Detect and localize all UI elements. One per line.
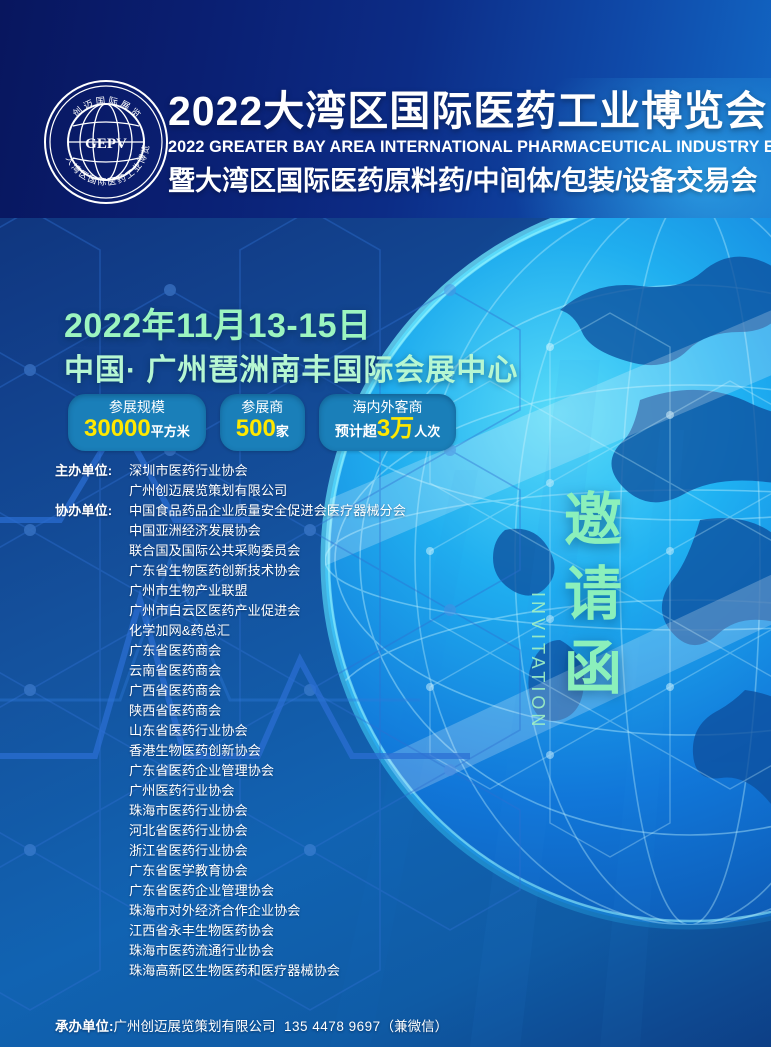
- host-row: 主办单位: 深圳市医药行业协会: [55, 461, 475, 481]
- stat-unit: 人次: [414, 424, 440, 439]
- stat-value-group: 30000平方米: [84, 416, 190, 444]
- coorganizer-row: 江西省永丰生物医药协会: [55, 921, 475, 941]
- coorganizer-name: 香港生物医药创新协会: [129, 741, 261, 761]
- coorganizer-name: 广州市白云区医药产业促进会: [129, 601, 300, 621]
- coorganizer-name: 化学加网&药总汇: [129, 621, 230, 641]
- poster-header: GEPV 创迈国际展览 大湾区国际医药工业博览会 2022大湾区国际医药工业博览…: [0, 0, 771, 218]
- host-name: 广州创迈展览策划有限公司: [129, 481, 287, 501]
- coorganizer-row: 云南省医药商会: [55, 661, 475, 681]
- stat-label: 参展规模: [84, 399, 190, 416]
- coorganizer-name: 云南省医药商会: [129, 661, 221, 681]
- expo-title-cn: 2022大湾区国际医药工业博览会: [168, 88, 764, 134]
- title-block: 2022大湾区国际医药工业博览会 2022 GREATER BAY AREA I…: [168, 88, 764, 199]
- coorganizer-name: 江西省永丰生物医药协会: [129, 921, 274, 941]
- host-name: 深圳市医药行业协会: [129, 461, 248, 481]
- logo-center-text: GEPV: [85, 136, 127, 152]
- logo-top-arc-text: 创迈国际展览: [70, 96, 144, 123]
- coorganizer-row: 广州市白云区医药产业促进会: [55, 601, 475, 621]
- footer-note: （兼微信）: [381, 1019, 449, 1034]
- poster-root: GEPV 创迈国际展览 大湾区国际医药工业博览会 2022大湾区国际医药工业博览…: [0, 0, 771, 1047]
- stat-number: 500: [236, 415, 276, 442]
- coorganizer-row: 浙江省医药行业协会: [55, 841, 475, 861]
- coorganizer-row: 广东省医药商会: [55, 641, 475, 661]
- svg-text:创迈国际展览: 创迈国际展览: [70, 96, 144, 123]
- expo-title-en: 2022 GREATER BAY AREA INTERNATIONAL PHAR…: [168, 136, 755, 158]
- coorganizer-row: 化学加网&药总汇: [55, 621, 475, 641]
- coorganizer-row: 陕西省医药商会: [55, 701, 475, 721]
- coorganizer-row: 协办单位: 中国食品药品企业质量安全促进会医疗器械分会: [55, 501, 475, 521]
- coorganizer-row: 珠海市对外经济合作企业协会: [55, 901, 475, 921]
- coorganizer-sublist: 中国亚洲经济发展协会联合国及国际公共采购委员会广东省生物医药创新技术协会广州市生…: [55, 521, 475, 981]
- footer-organizer: 承办单位:广州创迈展览策划有限公司 135 4478 9697（兼微信）: [55, 1015, 448, 1035]
- coorganizer-name: 广州市生物产业联盟: [129, 581, 248, 601]
- coorganizer-name: 广东省医学教育协会: [129, 861, 248, 881]
- coorganizer-name: 中国亚洲经济发展协会: [129, 521, 261, 541]
- stat-unit: 平方米: [151, 424, 190, 439]
- coorganizer-row: 珠海高新区生物医药和医疗器械协会: [55, 961, 475, 981]
- coorganizer-row: 广州市生物产业联盟: [55, 581, 475, 601]
- coorganizer-name: 广东省医药企业管理协会: [129, 881, 274, 901]
- stat-value-group: 预计超3万人次: [335, 416, 440, 444]
- event-date: 2022年11月13-15日: [64, 298, 372, 347]
- host-label: 主办单位:: [55, 461, 129, 481]
- coorganizer-row: 广东省生物医药创新技术协会: [55, 561, 475, 581]
- expo-title-subtitle: 暨大湾区国际医药原料药/中间体/包装/设备交易会: [168, 163, 764, 199]
- invitation-char: 邀: [564, 484, 622, 558]
- coorganizer-row: 联合国及国际公共采购委员会: [55, 541, 475, 561]
- stat-pill-visitors: 海内外客商 预计超3万人次: [319, 394, 456, 451]
- stat-value-group: 500家: [236, 416, 289, 444]
- coorganizer-row: 中国亚洲经济发展协会: [55, 521, 475, 541]
- coorganizer-name: 联合国及国际公共采购委员会: [129, 541, 300, 561]
- invitation-chars: 邀 请 函: [564, 484, 622, 706]
- coorganizer-name: 珠海市对外经济合作企业协会: [129, 901, 300, 921]
- coorganizer-row: 珠海市医药行业协会: [55, 801, 475, 821]
- stats-row: 参展规模 30000平方米 参展商 500家 海内外客商 预计超3万人次: [68, 394, 456, 451]
- organizer-list: 主办单位: 深圳市医药行业协会 广州创迈展览策划有限公司 协办单位: 中国食品药…: [55, 461, 475, 981]
- event-venue: 中国· 广州琶洲南丰国际会展中心: [64, 345, 518, 389]
- invitation-english: INVITATION: [527, 592, 548, 730]
- coorganizer-name: 广东省医药商会: [129, 641, 221, 661]
- stat-pill-exhibitors: 参展商 500家: [220, 394, 305, 451]
- stat-prefix: 预计超: [335, 423, 377, 439]
- coorganizer-name: 陕西省医药商会: [129, 701, 221, 721]
- invitation-char: 请: [564, 558, 622, 632]
- stat-pill-scale: 参展规模 30000平方米: [68, 394, 206, 451]
- coorganizer-row: 广东省医药企业管理协会: [55, 761, 475, 781]
- coorganizer-name: 珠海高新区生物医药和医疗器械协会: [129, 961, 340, 981]
- coorganizer-name: 广西省医药商会: [129, 681, 221, 701]
- coorganizer-row: 广东省医药企业管理协会: [55, 881, 475, 901]
- stat-label: 海内外客商: [335, 399, 440, 416]
- coorganizer-row: 香港生物医药创新协会: [55, 741, 475, 761]
- coorganizer-row: 广州医药行业协会: [55, 781, 475, 801]
- footer-phone: [276, 1019, 285, 1034]
- coorganizer-name: 河北省医药行业协会: [129, 821, 248, 841]
- stat-number: 30000: [84, 415, 151, 442]
- coorganizer-row: 河北省医药行业协会: [55, 821, 475, 841]
- stat-number: 3万: [377, 415, 414, 442]
- coorganizer-label: 协办单位:: [55, 501, 129, 521]
- coorganizer-row: 山东省医药行业协会: [55, 721, 475, 741]
- footer-company: 广州创迈展览策划有限公司: [114, 1019, 276, 1034]
- host-row: 广州创迈展览策划有限公司: [55, 481, 475, 501]
- coorganizer-name: 浙江省医药行业协会: [129, 841, 248, 861]
- coorganizer-row: 广西省医药商会: [55, 681, 475, 701]
- coorganizer-name: 广东省医药企业管理协会: [129, 761, 274, 781]
- footer-phone-number: 135 4478 9697: [284, 1019, 381, 1034]
- footer-label: 承办单位:: [55, 1019, 114, 1034]
- invitation-char: 函: [564, 632, 622, 706]
- coorganizer-name: 珠海市医药行业协会: [129, 801, 248, 821]
- stat-unit: 家: [276, 424, 289, 439]
- coorganizer-row: 珠海市医药流通行业协会: [55, 941, 475, 961]
- coorganizer-name: 广州医药行业协会: [129, 781, 235, 801]
- expo-emblem-logo: GEPV 创迈国际展览 大湾区国际医药工业博览会: [43, 79, 169, 205]
- coorganizer-name: 广东省生物医药创新技术协会: [129, 561, 300, 581]
- coorganizer-name: 山东省医药行业协会: [129, 721, 248, 741]
- stat-label: 参展商: [236, 399, 289, 416]
- coorganizer-name: 珠海市医药流通行业协会: [129, 941, 274, 961]
- coorganizer-name: 中国食品药品企业质量安全促进会医疗器械分会: [129, 501, 406, 521]
- coorganizer-row: 广东省医学教育协会: [55, 861, 475, 881]
